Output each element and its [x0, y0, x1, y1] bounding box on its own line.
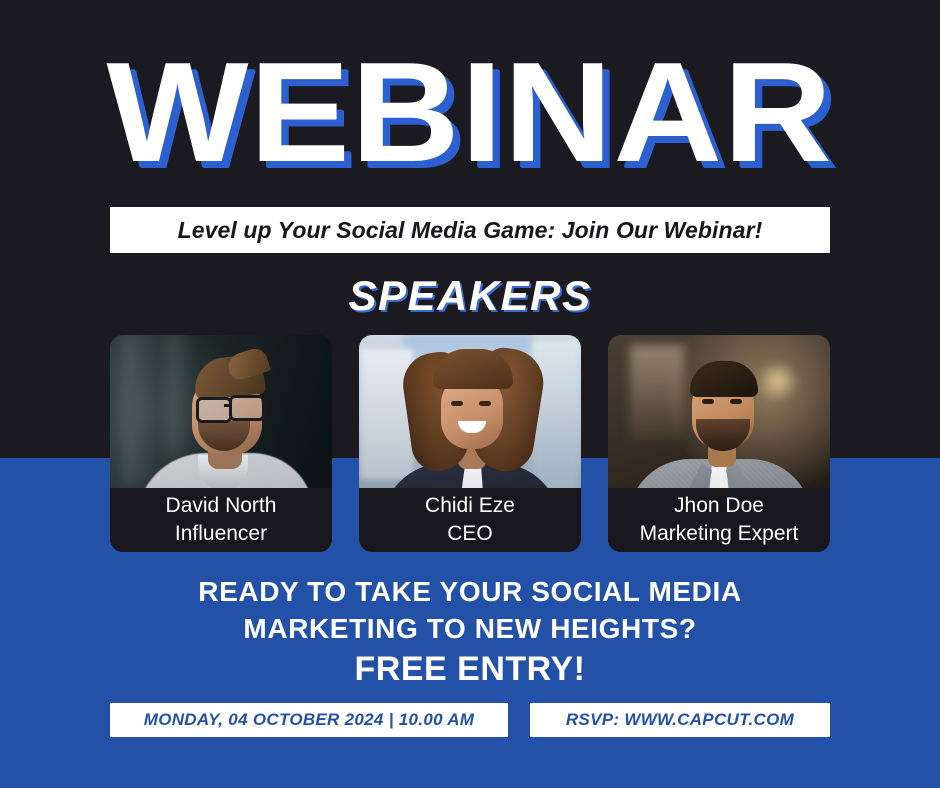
speaker-name: David North	[166, 492, 277, 520]
subtitle-bar: Level up Your Social Media Game: Join Ou…	[110, 207, 830, 253]
cta-line-2: MARKETING TO NEW HEIGHTS?	[0, 611, 940, 648]
poster-title: WEBINAR	[0, 42, 940, 184]
speaker-card: Jhon Doe Marketing Expert	[608, 335, 830, 552]
speaker-name: Jhon Doe	[674, 492, 764, 520]
cta-line-1: READY TO TAKE YOUR SOCIAL MEDIA	[0, 574, 940, 611]
free-entry-text: FREE ENTRY!	[355, 650, 586, 688]
title-text: WEBINAR	[107, 42, 834, 184]
speaker-name: Chidi Eze	[425, 492, 515, 520]
speaker-caption: Chidi Eze CEO	[359, 488, 581, 552]
event-date-bar: MONDAY, 04 OCTOBER 2024 | 10.00 AM	[110, 703, 508, 737]
speaker-card: David North Influencer	[110, 335, 332, 552]
speaker-card-list: David North Influencer	[110, 335, 830, 552]
speaker-card: Chidi Eze CEO	[359, 335, 581, 552]
speakers-heading-text: SPEAKERS	[348, 272, 591, 319]
event-date-text: MONDAY, 04 OCTOBER 2024 | 10.00 AM	[144, 710, 475, 730]
rsvp-bar[interactable]: RSVP: WWW.CAPCUT.COM	[530, 703, 830, 737]
cta-headline: READY TO TAKE YOUR SOCIAL MEDIA MARKETIN…	[0, 574, 940, 648]
webinar-poster: WEBINAR Level up Your Social Media Game:…	[0, 0, 940, 788]
speaker-caption: Jhon Doe Marketing Expert	[608, 488, 830, 552]
speaker-role: CEO	[447, 520, 493, 548]
speaker-caption: David North Influencer	[110, 488, 332, 552]
rsvp-text: RSVP: WWW.CAPCUT.COM	[566, 710, 794, 730]
speakers-heading: SPEAKERS	[0, 272, 940, 320]
speaker-role: Influencer	[175, 520, 267, 548]
speaker-role: Marketing Expert	[640, 520, 799, 548]
subtitle-text: Level up Your Social Media Game: Join Ou…	[178, 217, 763, 244]
free-entry-label: FREE ENTRY!	[0, 650, 940, 689]
